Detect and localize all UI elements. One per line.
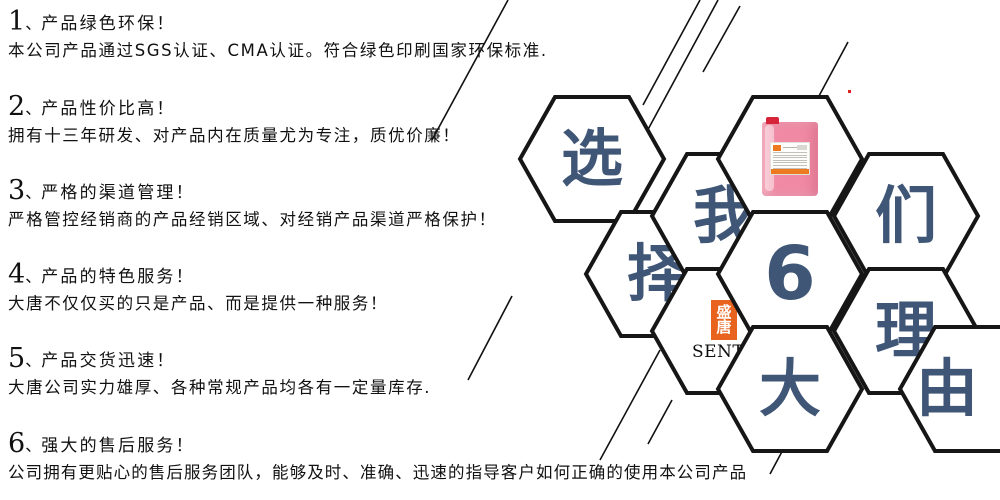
reason-separator-1: 、 [25,14,41,33]
hex-label-xuan: 选 [518,95,666,223]
jerrycan-cap [766,117,779,124]
reason-separator-6: 、 [25,436,41,455]
label-logo-mark [773,145,781,151]
reason-body-1: 本公司产品通过SGS认证、CMA认证。符合绿色印刷国家环保标准. [8,41,698,62]
reason-number-2: 2 [8,91,25,122]
hex-label-you: 由 [898,325,1000,453]
reason-separator-2: 、 [25,99,41,118]
reason-heading-2: 产品性价比高！ [41,99,175,119]
reason-item-1: 1、产品绿色环保！ 本公司产品通过SGS认证、CMA认证。符合绿色印刷国家环保标… [8,8,698,62]
label-weight-chip [797,145,807,150]
promo-banner: 1、产品绿色环保！ 本公司产品通过SGS认证、CMA认证。符合绿色印刷国家环保标… [0,0,1000,500]
reason-title-5: 5、产品交货迅速！ [8,345,698,372]
reason-heading-5: 产品交货迅速！ [41,351,175,371]
label-footer-bar [771,169,809,174]
reason-body-6: 公司拥有更贴心的售后服务团队，能够及时、准确、迅速的指导客户如何正确的使用本公司… [8,463,993,484]
reason-separator-4: 、 [25,267,41,286]
reason-item-5: 5、产品交货迅速！ 大唐公司实力雄厚、各种常规产品均各有一定量库存. [8,345,698,399]
hex-cell-xuan[interactable]: 选 [518,95,666,223]
reason-title-1: 1、产品绿色环保！ [8,8,698,35]
jerrycan-label [770,142,810,175]
reason-heading-3: 严格的渠道管理！ [41,183,195,203]
jerrycan-icon [762,122,818,196]
hex-label-men: 们 [832,152,980,280]
red-dot-decoration [848,90,851,93]
reason-heading-1: 产品绿色环保！ [41,14,175,34]
reason-heading-4: 产品的特色服务！ [41,267,195,287]
reason-number-3: 3 [8,175,25,206]
reason-number-1: 1 [8,6,25,37]
reason-heading-6: 强大的售后服务！ [41,436,195,456]
reason-separator-5: 、 [25,351,41,370]
hex-cell-men[interactable]: 们 [832,152,980,280]
reason-number-6: 6 [8,428,25,459]
reason-separator-3: 、 [25,183,41,202]
reason-body-5: 大唐公司实力雄厚、各种常规产品均各有一定量库存. [8,378,698,399]
reason-number-4: 4 [8,259,25,290]
reason-number-5: 5 [8,343,25,374]
hex-cell-you[interactable]: 由 [898,325,1000,453]
